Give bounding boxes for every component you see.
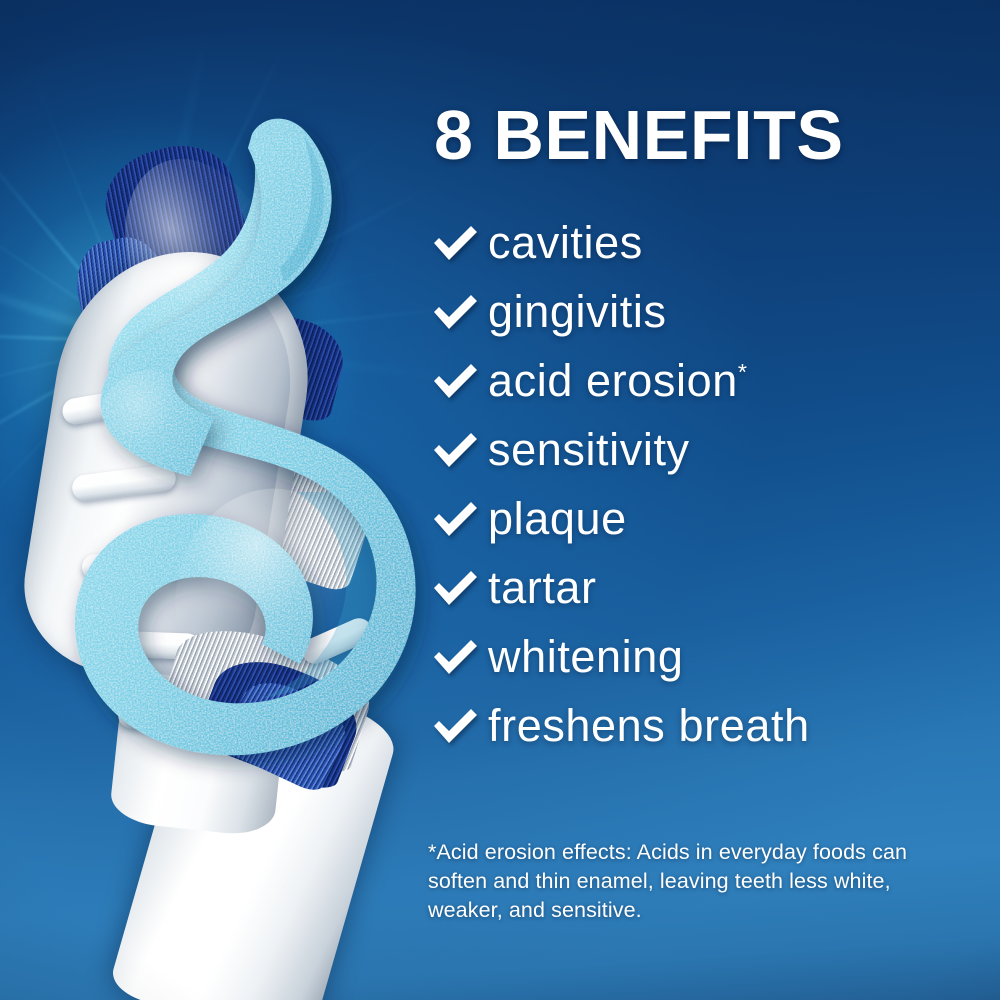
list-item: gingivitis	[430, 277, 990, 346]
benefit-label: freshens breath	[488, 703, 810, 748]
benefit-label: tartar	[488, 565, 597, 610]
checkmark-icon	[430, 702, 482, 750]
benefit-label: acid erosion*	[488, 358, 748, 403]
benefits-panel: 8 BENEFITS cavities gingivitis	[418, 0, 1000, 1000]
checkmark-icon	[430, 633, 482, 681]
checkmark-icon	[430, 495, 482, 543]
product-benefits-ad: 8 BENEFITS cavities gingivitis	[0, 0, 1000, 1000]
list-item: cavities	[430, 208, 990, 277]
checkmark-icon	[430, 219, 482, 267]
benefit-label: sensitivity	[488, 427, 690, 472]
list-item: plaque	[430, 484, 990, 553]
list-item: acid erosion*	[430, 346, 990, 415]
checkmark-icon	[430, 288, 482, 336]
list-item: whitening	[430, 622, 990, 691]
benefit-label: plaque	[488, 496, 627, 541]
list-item: tartar	[430, 553, 990, 622]
checkmark-icon	[430, 357, 482, 405]
benefit-label: gingivitis	[488, 289, 667, 334]
list-item: freshens breath	[430, 691, 990, 760]
checkmark-icon	[430, 564, 482, 612]
footnote-marker: *	[738, 359, 748, 385]
benefit-label: cavities	[488, 220, 643, 265]
benefit-label: whitening	[488, 634, 684, 679]
checkmark-icon	[430, 426, 482, 474]
footnote-text: *Acid erosion effects: Acids in everyday…	[428, 838, 948, 925]
list-item: sensitivity	[430, 415, 990, 484]
benefits-list: cavities gingivitis acid erosion*	[430, 208, 990, 760]
page-title: 8 BENEFITS	[434, 100, 844, 170]
